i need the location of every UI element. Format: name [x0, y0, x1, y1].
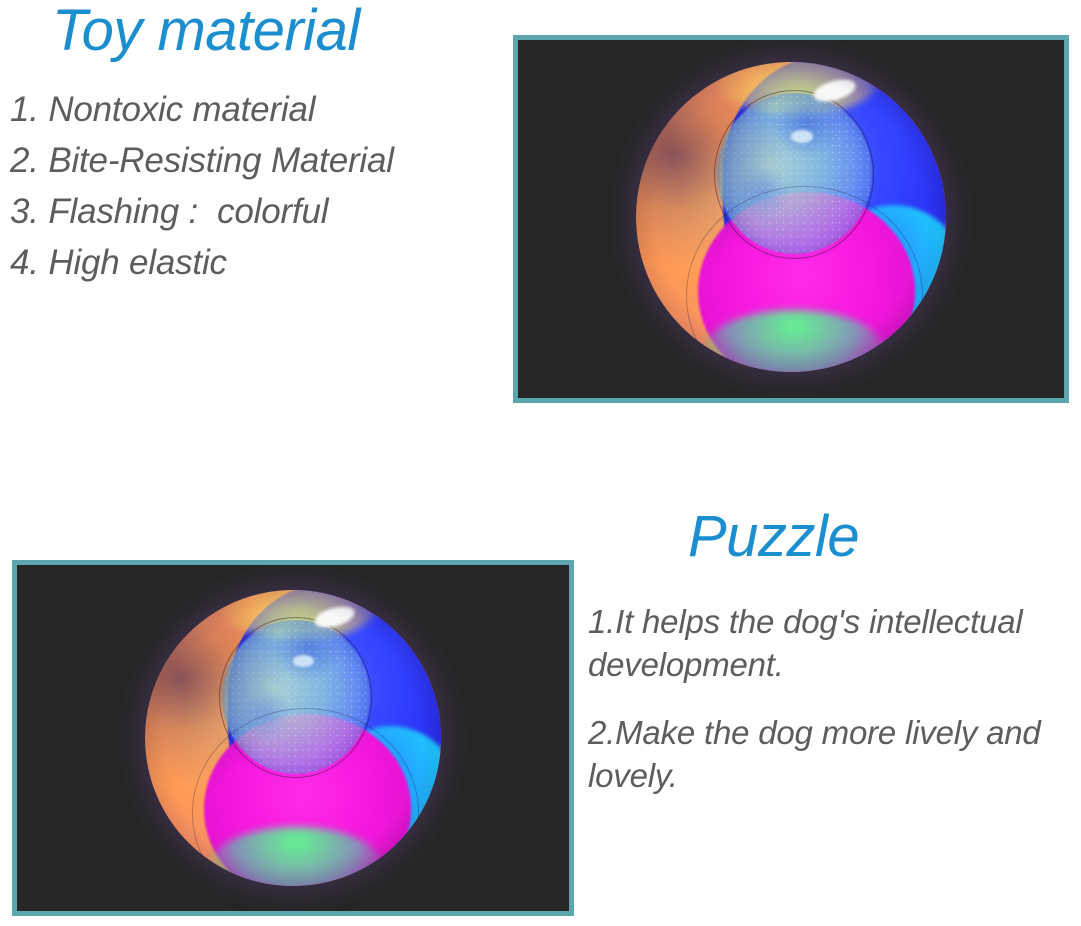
list-item: 4. High elastic	[10, 237, 510, 288]
toy-material-list: 1. Nontoxic material 2. Bite-Resisting M…	[10, 84, 510, 288]
list-item: 1. Nontoxic material	[10, 84, 510, 135]
ball-graphic	[145, 590, 441, 886]
product-photo-panel-top-right	[513, 35, 1069, 403]
ball-graphic	[636, 62, 946, 372]
product-photo-panel-bottom-left	[12, 560, 574, 916]
list-item: 2.Make the dog more lively and lovely.	[588, 711, 1073, 797]
led-rainbow-ball-image	[145, 590, 441, 886]
puzzle-list: 1.It helps the dog's intellectual develo…	[588, 600, 1073, 797]
list-item: 3. Flashing : colorful	[10, 186, 510, 237]
ball-rim-shading	[636, 62, 946, 372]
list-item: 1.It helps the dog's intellectual develo…	[588, 600, 1073, 686]
list-item: 2. Bite-Resisting Material	[10, 135, 510, 186]
led-rainbow-ball-image	[636, 62, 946, 372]
puzzle-heading: Puzzle	[688, 508, 859, 566]
toy-material-heading: Toy material	[52, 2, 360, 60]
ball-rim-shading	[145, 590, 441, 886]
